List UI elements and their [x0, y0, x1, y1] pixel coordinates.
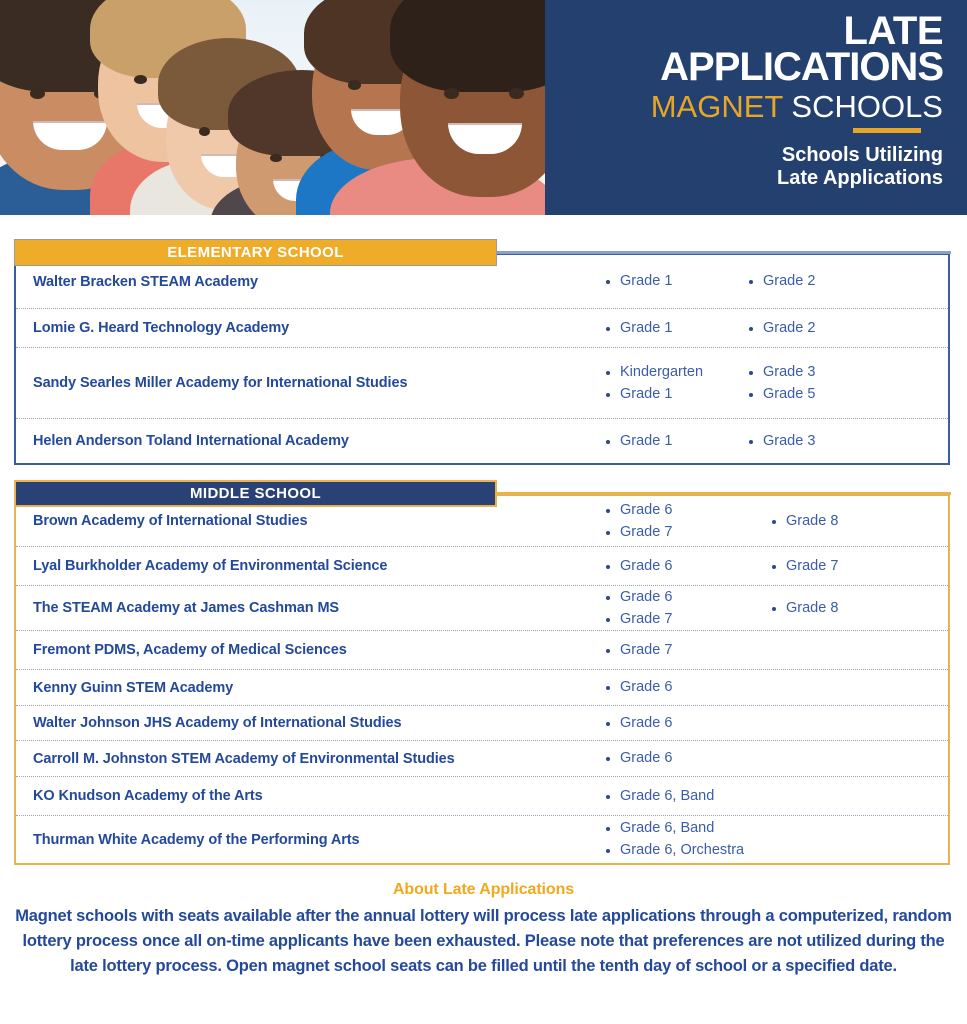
page-root: LATE APPLICATIONS MAGNET SCHOOLS Schools…: [0, 0, 967, 1024]
grade-column-1: Grade 1: [604, 273, 747, 290]
table-row[interactable]: Thurman White Academy of the Performing …: [16, 815, 948, 863]
elementary-tab-label: ELEMENTARY SCHOOL: [167, 244, 344, 261]
table-row[interactable]: The STEAM Academy at James Cashman MSGra…: [16, 585, 948, 630]
middle-tab-label: MIDDLE SCHOOL: [190, 485, 321, 502]
grade-item: Grade 6, Orchestra: [604, 842, 770, 859]
grade-column-1: Grade 6Grade 7: [604, 589, 770, 627]
table-row[interactable]: Carroll M. Johnston STEM Academy of Envi…: [16, 740, 948, 776]
grade-item: Grade 6: [604, 750, 770, 767]
school-name: Fremont PDMS, Academy of Medical Science…: [24, 642, 604, 658]
grade-item: Grade 6: [604, 715, 770, 732]
hero-subtitle-schools: SCHOOLS: [791, 89, 943, 124]
middle-tab-rule: [495, 492, 951, 495]
footer-title: About Late Applications: [0, 881, 967, 899]
grade-item: Grade 6: [604, 558, 770, 575]
grade-column-1: KindergartenGrade 1: [604, 364, 747, 402]
hero-banner: LATE APPLICATIONS MAGNET SCHOOLS Schools…: [0, 0, 967, 215]
gold-divider-rule: [853, 128, 921, 133]
grade-item: Grade 7: [770, 558, 948, 575]
grade-column-1: Grade 1: [604, 433, 747, 450]
school-name: Walter Bracken STEAM Academy: [24, 274, 604, 290]
grade-column-2: Grade 2: [747, 273, 948, 290]
grade-column-2: Grade 2: [747, 320, 948, 337]
grade-item: Grade 7: [604, 611, 770, 628]
grade-list: Grade 7: [604, 642, 948, 659]
grade-list: Grade 1Grade 3: [604, 433, 948, 450]
elementary-rows: Walter Bracken STEAM AcademyGrade 1Grade…: [16, 255, 948, 463]
elementary-section-tab: ELEMENTARY SCHOOL: [14, 239, 497, 266]
grade-list: Grade 6, BandGrade 6, Orchestra: [604, 820, 948, 858]
grade-column-2: Grade 3: [747, 433, 948, 450]
grade-item: Grade 7: [604, 642, 770, 659]
hero-subtitle: MAGNET SCHOOLS: [563, 91, 943, 124]
grade-column-1: Grade 6: [604, 558, 770, 575]
school-name: Helen Anderson Toland International Acad…: [24, 433, 604, 449]
grade-item: Grade 3: [747, 364, 948, 381]
grade-list: Grade 1Grade 2: [604, 320, 948, 337]
grade-column-1: Grade 7: [604, 642, 770, 659]
school-name: Lomie G. Heard Technology Academy: [24, 320, 604, 336]
grade-list: Grade 6Grade 7Grade 8: [604, 589, 948, 627]
table-row[interactable]: Sandy Searles Miller Academy for Interna…: [16, 347, 948, 418]
table-row[interactable]: Lomie G. Heard Technology AcademyGrade 1…: [16, 308, 948, 347]
table-row[interactable]: Lyal Burkholder Academy of Environmental…: [16, 546, 948, 585]
grade-column-1: Grade 6, Band: [604, 788, 770, 805]
grade-item: Grade 6: [604, 679, 770, 696]
school-name: Kenny Guinn STEM Academy: [24, 680, 604, 696]
grade-column-1: Grade 6, BandGrade 6, Orchestra: [604, 820, 770, 858]
grade-column-1: Grade 6: [604, 679, 770, 696]
grade-list: Grade 6Grade 7Grade 8: [604, 502, 948, 540]
grade-item: Kindergarten: [604, 364, 747, 381]
hero-title-panel: LATE APPLICATIONS MAGNET SCHOOLS Schools…: [545, 0, 967, 215]
school-name: Lyal Burkholder Academy of Environmental…: [24, 558, 604, 574]
grade-column-1: Grade 6Grade 7: [604, 502, 770, 540]
grade-column-2: Grade 8: [770, 600, 948, 617]
table-row[interactable]: Kenny Guinn STEM AcademyGrade 6: [16, 669, 948, 705]
table-row[interactable]: Helen Anderson Toland International Acad…: [16, 418, 948, 463]
hero-tagline-line1: Schools Utilizing: [563, 144, 943, 166]
elementary-tab-rule: [495, 251, 951, 254]
grade-list: Grade 6: [604, 679, 948, 696]
grade-item: Grade 2: [747, 320, 948, 337]
grade-list: Grade 6, Band: [604, 788, 948, 805]
footer-body: Magnet schools with seats available afte…: [11, 904, 956, 979]
grade-item: Grade 6: [604, 589, 770, 606]
hero-title-line2: APPLICATIONS: [563, 48, 943, 87]
grade-item: Grade 7: [604, 524, 770, 541]
middle-rows: Brown Academy of International StudiesGr…: [16, 496, 948, 863]
grade-list: Grade 6Grade 7: [604, 558, 948, 575]
grade-item: Grade 1: [604, 433, 747, 450]
grade-list: Grade 6: [604, 750, 948, 767]
grade-column-1: Grade 6: [604, 715, 770, 732]
grade-column-2: Grade 3Grade 5: [747, 364, 948, 402]
grade-item: Grade 6: [604, 502, 770, 519]
middle-school-card: Brown Academy of International StudiesGr…: [14, 494, 950, 865]
grade-list: Grade 6: [604, 715, 948, 732]
table-row[interactable]: KO Knudson Academy of the ArtsGrade 6, B…: [16, 776, 948, 815]
hero-tagline: Schools Utilizing Late Applications: [563, 144, 943, 189]
grade-item: Grade 1: [604, 320, 747, 337]
hero-tagline-line2: Late Applications: [563, 167, 943, 189]
grade-item: Grade 8: [770, 600, 948, 617]
school-name: Brown Academy of International Studies: [24, 513, 604, 529]
photo-child-6: [400, 2, 545, 197]
school-name: Thurman White Academy of the Performing …: [24, 832, 604, 848]
grade-list: Grade 1Grade 2: [604, 273, 948, 290]
grade-item: Grade 8: [770, 513, 948, 530]
school-name: Walter Johnson JHS Academy of Internatio…: [24, 715, 604, 731]
table-row[interactable]: Walter Johnson JHS Academy of Internatio…: [16, 705, 948, 740]
grade-column-1: Grade 1: [604, 320, 747, 337]
about-late-applications: About Late Applications Magnet schools w…: [0, 881, 967, 979]
middle-section-tab: MIDDLE SCHOOL: [14, 480, 497, 507]
grade-item: Grade 6, Band: [604, 820, 770, 837]
school-name: Carroll M. Johnston STEM Academy of Envi…: [24, 751, 604, 767]
grade-item: Grade 6, Band: [604, 788, 770, 805]
hero-subtitle-magnet: MAGNET: [651, 89, 792, 124]
school-name: Sandy Searles Miller Academy for Interna…: [24, 375, 604, 391]
grade-column-2: Grade 7: [770, 558, 948, 575]
grade-item: Grade 1: [604, 273, 747, 290]
elementary-school-card: Walter Bracken STEAM AcademyGrade 1Grade…: [14, 253, 950, 465]
school-name: The STEAM Academy at James Cashman MS: [24, 600, 604, 616]
school-name: KO Knudson Academy of the Arts: [24, 788, 604, 804]
grade-item: Grade 5: [747, 386, 948, 403]
grade-column-2: Grade 8: [770, 513, 948, 530]
grade-list: KindergartenGrade 1Grade 3Grade 5: [604, 364, 948, 402]
grade-item: Grade 3: [747, 433, 948, 450]
hero-photo-children: [0, 0, 545, 215]
grade-column-1: Grade 6: [604, 750, 770, 767]
grade-item: Grade 2: [747, 273, 948, 290]
table-row[interactable]: Fremont PDMS, Academy of Medical Science…: [16, 630, 948, 669]
grade-item: Grade 1: [604, 386, 747, 403]
